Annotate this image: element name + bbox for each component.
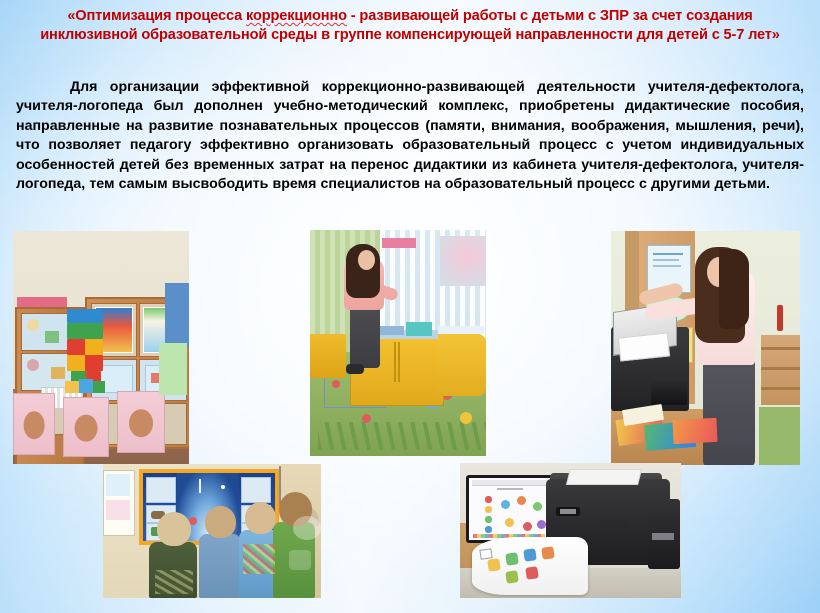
photo-printer-and-monitor <box>460 463 681 598</box>
title-line-1-post: - развивающей работы с детьми с ЗПР за с… <box>347 8 682 24</box>
computer-monitor <box>466 475 554 543</box>
title-line-1-pre: «Оптимизация процесса <box>67 8 246 24</box>
slide-body-paragraph: Для организации эффективной коррекционно… <box>16 78 804 194</box>
photo-teacher-at-yellow-cabinet <box>310 230 486 456</box>
slide-title: «Оптимизация процесса коррекционно - раз… <box>40 7 780 44</box>
photo-shelving-with-toy-bins <box>13 231 189 464</box>
title-misspelled-word: коррекционно <box>246 8 347 24</box>
presentation-slide: «Оптимизация процесса коррекционно - раз… <box>0 0 820 613</box>
title-line-3: направленности для детей с 5-7 лет» <box>515 27 779 43</box>
photo-children-at-interactive-board <box>103 464 321 598</box>
photo-specialist-at-printer <box>611 231 800 465</box>
